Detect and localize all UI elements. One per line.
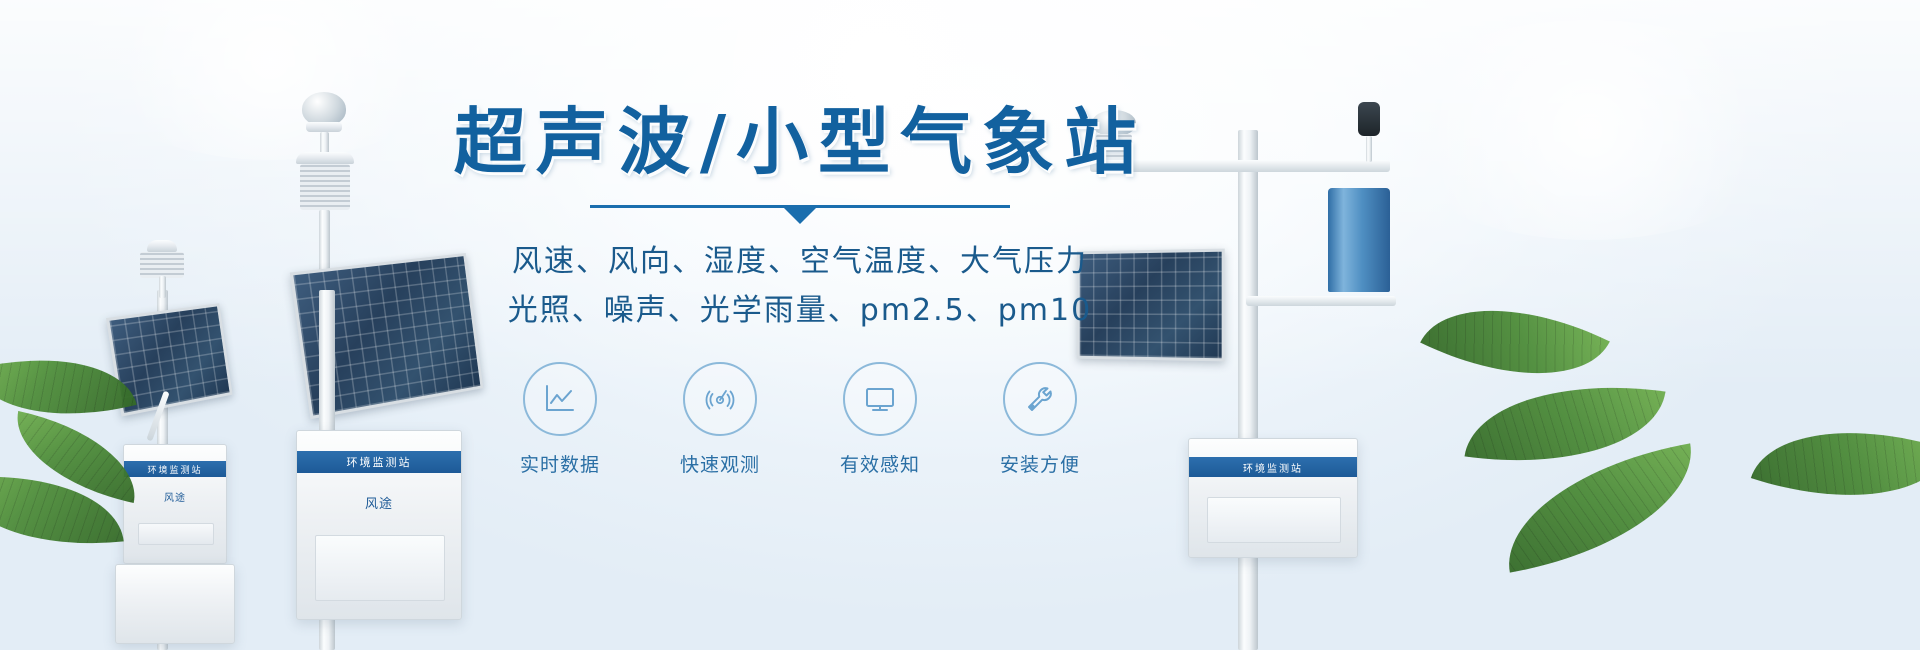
sensor-head xyxy=(147,240,177,252)
leaf-decoration xyxy=(1751,394,1920,533)
feature-label: 快速观测 xyxy=(665,450,775,477)
subtitle-block: 风速、风向、湿度、空气温度、大气压力 光照、噪声、光学雨量、pm2.5、pm10 xyxy=(440,237,1160,336)
cabinet-panel-face xyxy=(1207,497,1341,543)
main-mast xyxy=(1238,130,1258,650)
optical-rain-gauge xyxy=(1328,188,1390,292)
temperature-shield xyxy=(140,252,184,278)
feature-item-fast-observation[interactable]: 快速观测 xyxy=(665,362,775,477)
cabinet-label-strip: 环境监测站 xyxy=(1189,457,1357,477)
feature-label: 安装方便 xyxy=(985,450,1095,477)
cabinet-label-strip: 环境监测站 xyxy=(124,461,226,477)
wrench-tool-icon xyxy=(1020,379,1060,419)
radiation-cap xyxy=(296,152,354,164)
dome-collar xyxy=(306,122,342,132)
radiation-sensor xyxy=(1358,102,1380,136)
weather-station-left: 环境监测站 风途 xyxy=(105,230,285,650)
feature-label: 有效感知 xyxy=(825,450,935,477)
feature-list: 实时数据 快速观测 xyxy=(440,362,1160,477)
cabinet-label-text: 环境监测站 xyxy=(1243,460,1303,475)
divider-triangle-icon xyxy=(784,208,816,224)
monitor-screen-icon xyxy=(860,379,900,419)
brand-text: 风途 xyxy=(164,493,186,504)
sensor-stem xyxy=(159,276,166,298)
subtitle-line-1: 风速、风向、湿度、空气温度、大气压力 xyxy=(440,237,1160,287)
page-title: 超声波/小型气象站 xyxy=(440,100,1160,185)
equipment-cabinet: 环境监测站 xyxy=(1188,438,1358,558)
equipment-cabinet: 环境监测站 风途 xyxy=(123,444,227,564)
feature-icon-circle xyxy=(1003,362,1077,436)
cabinet-vent xyxy=(138,523,214,545)
feature-item-realtime-data[interactable]: 实时数据 xyxy=(505,362,615,477)
sensor-stem-right xyxy=(1366,136,1372,162)
feature-icon-circle xyxy=(843,362,917,436)
brand-text: 风途 xyxy=(365,497,393,512)
cabinet-door-panel xyxy=(315,535,445,601)
cabinet-brand-logo: 风途 xyxy=(124,489,226,504)
subtitle-line-2: 光照、噪声、光学雨量、pm2.5、pm10 xyxy=(440,286,1160,336)
leaf-decoration xyxy=(1493,443,1707,572)
title-divider xyxy=(590,199,1010,215)
feature-icon-circle xyxy=(683,362,757,436)
line-chart-icon xyxy=(540,379,580,419)
radar-sensor-icon xyxy=(700,379,740,419)
cabinet-label-text: 环境监测站 xyxy=(347,454,412,470)
mid-cross-arm xyxy=(1246,296,1396,306)
promo-banner: 环境监测站 风途 环境监测站 风途 xyxy=(0,0,1920,650)
feature-item-effective-sensing[interactable]: 有效感知 xyxy=(825,362,935,477)
feature-label: 实时数据 xyxy=(505,450,615,477)
feature-item-easy-install[interactable]: 安装方便 xyxy=(985,362,1095,477)
cabinet-label-text: 环境监测站 xyxy=(147,463,202,476)
equipment-cabinet: 环境监测站 风途 xyxy=(296,430,462,620)
cabinet-label-strip: 环境监测站 xyxy=(297,451,461,473)
ultrasonic-dome xyxy=(302,92,346,126)
cabinet-brand-logo: 风途 xyxy=(297,493,461,512)
feature-icon-circle xyxy=(523,362,597,436)
cabinet-base xyxy=(115,564,235,644)
radiation-shield xyxy=(300,164,350,210)
banner-content: 超声波/小型气象站 风速、风向、湿度、空气温度、大气压力 光照、噪声、光学雨量、… xyxy=(440,100,1160,477)
